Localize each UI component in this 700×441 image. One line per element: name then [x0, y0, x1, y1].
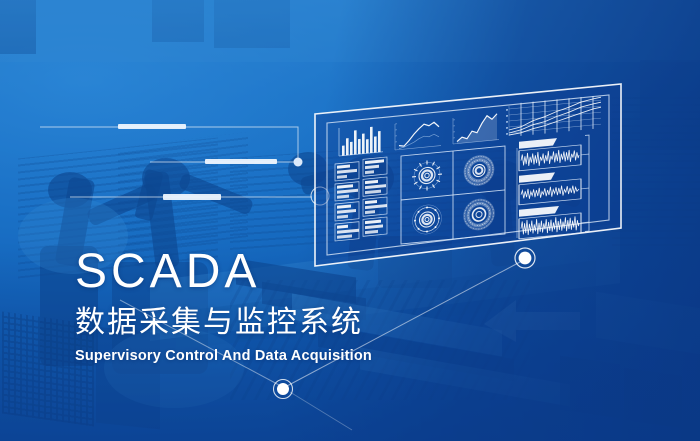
connector-bar-1: [118, 124, 186, 129]
scada-dashboard-screen: [303, 78, 623, 274]
connector-bar-3: [163, 194, 221, 200]
scada-banner: SCADA 数据采集与监控系统 Supervisory Control And …: [0, 0, 700, 441]
node-connector-small[interactable]: [294, 158, 303, 167]
connector-bar-2: [205, 159, 277, 164]
page-title: SCADA: [75, 248, 372, 296]
title-block: SCADA 数据采集与监控系统 Supervisory Control And …: [75, 248, 372, 364]
connector-line-1: [40, 127, 298, 160]
page-title-chinese: 数据采集与监控系统: [75, 308, 372, 338]
page-subtitle: Supervisory Control And Data Acquisition: [75, 349, 372, 364]
connector-line-diagonal-lower: [290, 392, 352, 430]
node-screen-bottom[interactable]: [515, 248, 535, 268]
